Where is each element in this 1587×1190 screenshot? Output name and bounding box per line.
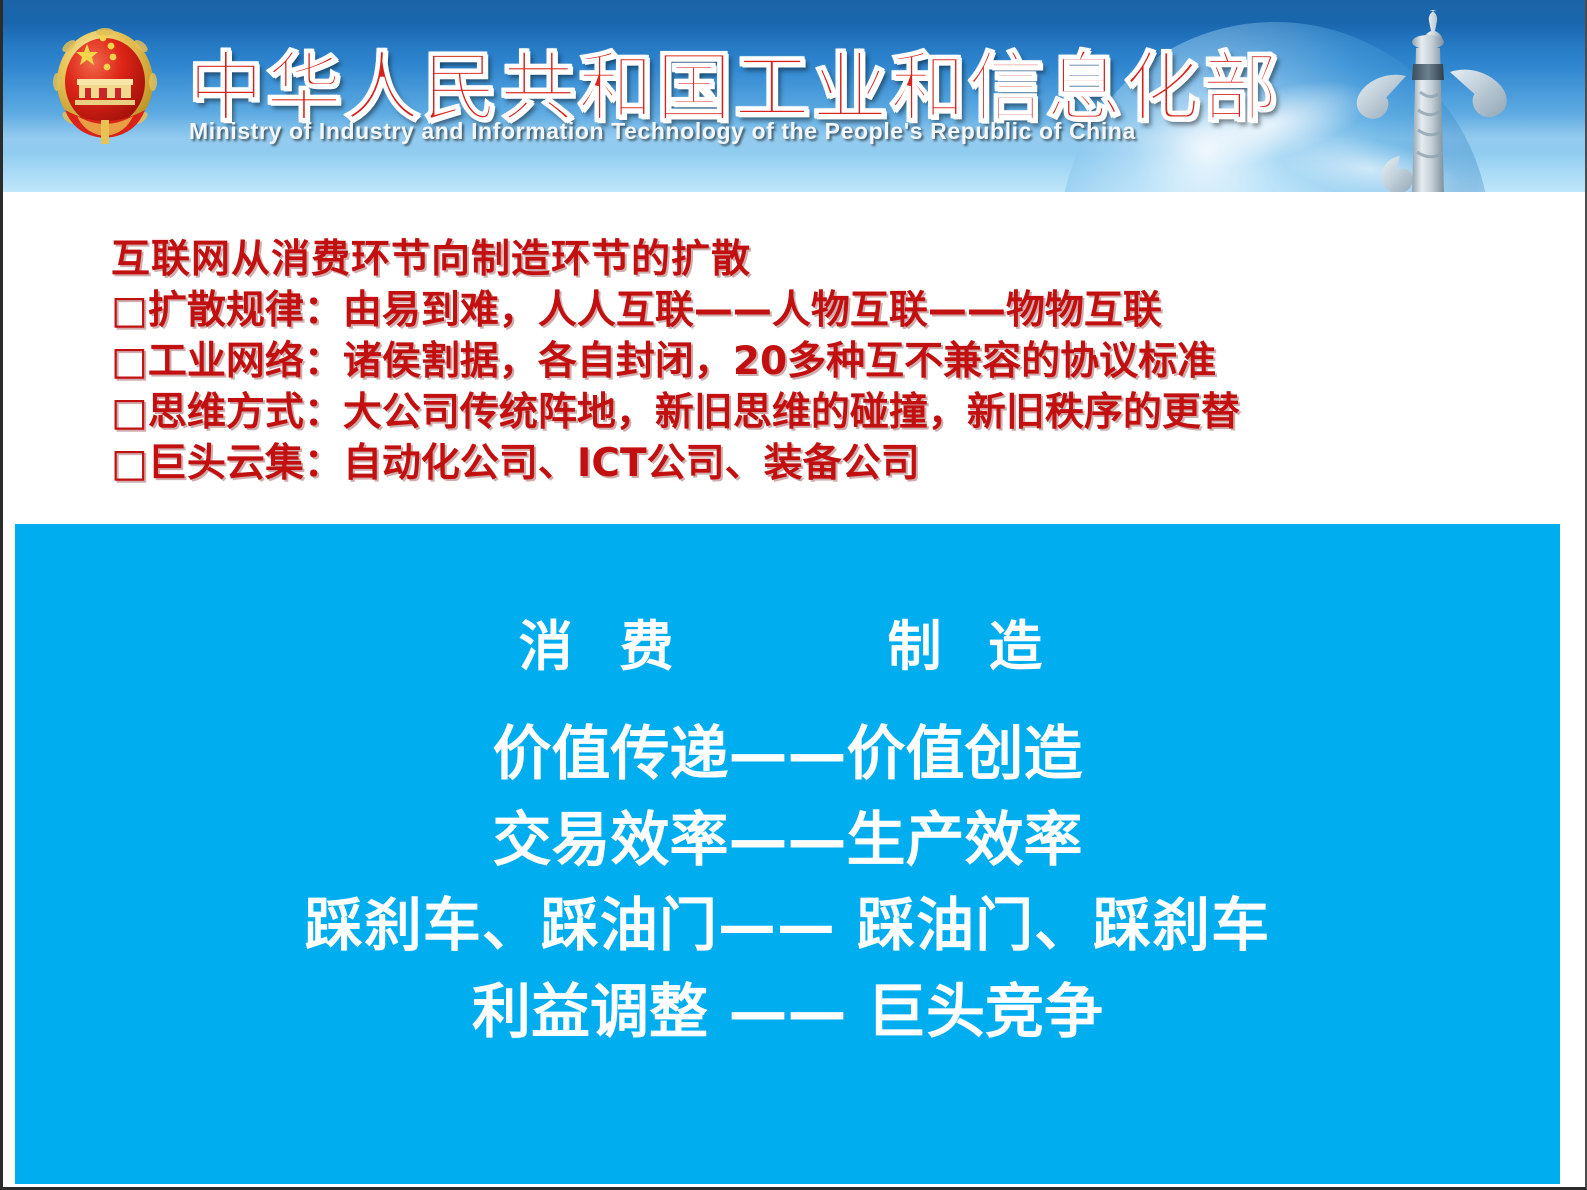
red-text-block: 互联网从消费环节向制造环节的扩散 □扩散规律：由易到难，人人互联——人物互联——… (111, 234, 1511, 489)
content-heading: 互联网从消费环节向制造环节的扩散 (111, 234, 1511, 285)
national-emblem-icon (47, 24, 163, 164)
panel-line-4: 利益调整 —— 巨头竞争 (15, 964, 1560, 1049)
bullet-item-2: □工业网络：诸侯割据，各自封闭，20多种互不兼容的协议标准 (111, 336, 1511, 387)
bullet-item-4: □巨头云集：自动化公司、ICT公司、装备公司 (111, 438, 1511, 489)
panel-line-1: 价值传递——价值创造 (15, 706, 1560, 791)
comparison-panel: 消 费制 造 价值传递——价值创造 交易效率——生产效率 踩刹车、踩油门—— 踩… (15, 524, 1560, 1184)
panel-line-3: 踩刹车、踩油门—— 踩油门、踩刹车 (15, 878, 1560, 962)
bullet-item-2-label: 工业网络：诸侯割据，各自封闭，20多种互不兼容的协议标准 (148, 339, 1216, 384)
bullet-item-1-label: 扩散规律：由易到难，人人互联——人物互联——物物互联 (148, 288, 1162, 333)
panel-line-2: 交易效率——生产效率 (15, 792, 1560, 877)
huabiao-column-icon (1340, 6, 1520, 192)
slide-root: 中华人民共和国工业和信息化部 Ministry of Industry and … (0, 0, 1587, 1190)
square-bullet-icon: □ (111, 387, 148, 438)
square-bullet-icon: □ (111, 285, 148, 336)
bullet-item-3-label: 思维方式：大公司传统阵地，新旧思维的碰撞，新旧秩序的更替 (148, 390, 1240, 435)
square-bullet-icon: □ (111, 336, 148, 387)
bullet-item-3: □思维方式：大公司传统阵地，新旧思维的碰撞，新旧秩序的更替 (111, 387, 1511, 438)
bullet-item-4-label: 巨头云集：自动化公司、ICT公司、装备公司 (148, 441, 920, 486)
square-bullet-icon: □ (111, 438, 148, 489)
panel-heading-row: 消 费制 造 (15, 602, 1560, 681)
panel-heading-manufacturing: 制 造 (888, 602, 1057, 681)
bullet-item-1: □扩散规律：由易到难，人人互联——人物互联——物物互联 (111, 285, 1511, 336)
header-banner: 中华人民共和国工业和信息化部 Ministry of Industry and … (3, 0, 1587, 192)
panel-heading-consumption: 消 费 (519, 602, 688, 681)
header-title-en: Ministry of Industry and Information Tec… (189, 118, 1136, 145)
